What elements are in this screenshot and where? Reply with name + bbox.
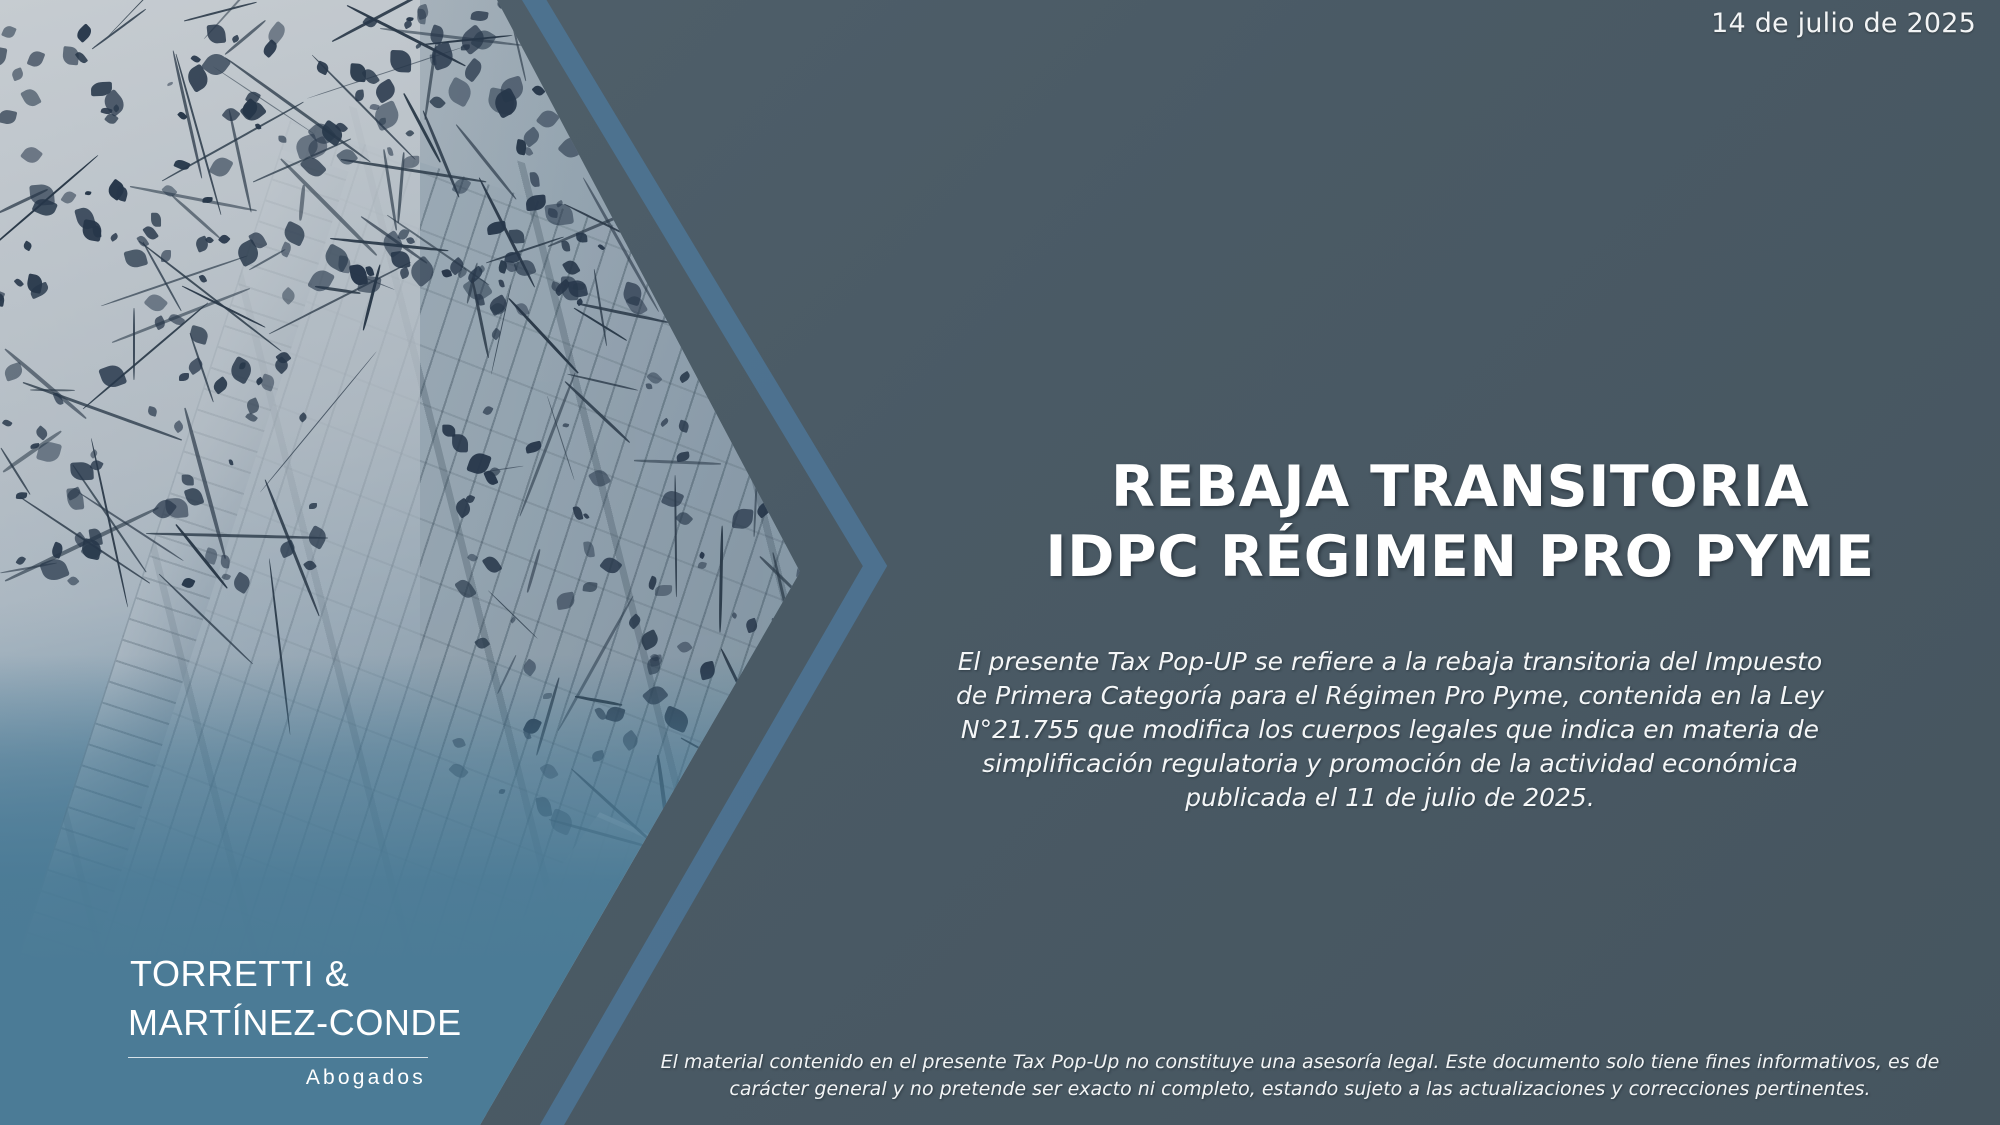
logo-line-1: TORRETTI & bbox=[128, 949, 428, 998]
firm-logo: TORRETTI & MARTÍNEZ-CONDE Abogados bbox=[128, 949, 428, 1090]
logo-tagline: Abogados bbox=[128, 1066, 428, 1090]
logo-line-2: MARTÍNEZ-CONDE bbox=[128, 998, 428, 1047]
title-line-2: IDPC RÉGIMEN PRO PYME bbox=[940, 522, 1980, 592]
footer-disclaimer: El material contenido en el presente Tax… bbox=[620, 1049, 1980, 1103]
slide-subtitle: El presente Tax Pop-UP se refiere a la r… bbox=[940, 645, 1840, 815]
slide-date: 14 de julio de 2025 bbox=[1711, 8, 1976, 39]
presentation-slide: 14 de julio de 2025 REBAJA TRANSITORIA I… bbox=[0, 0, 2000, 1125]
page-title: REBAJA TRANSITORIA IDPC RÉGIMEN PRO PYME bbox=[940, 452, 1980, 592]
title-line-1: REBAJA TRANSITORIA bbox=[940, 452, 1980, 522]
logo-divider bbox=[128, 1057, 428, 1058]
